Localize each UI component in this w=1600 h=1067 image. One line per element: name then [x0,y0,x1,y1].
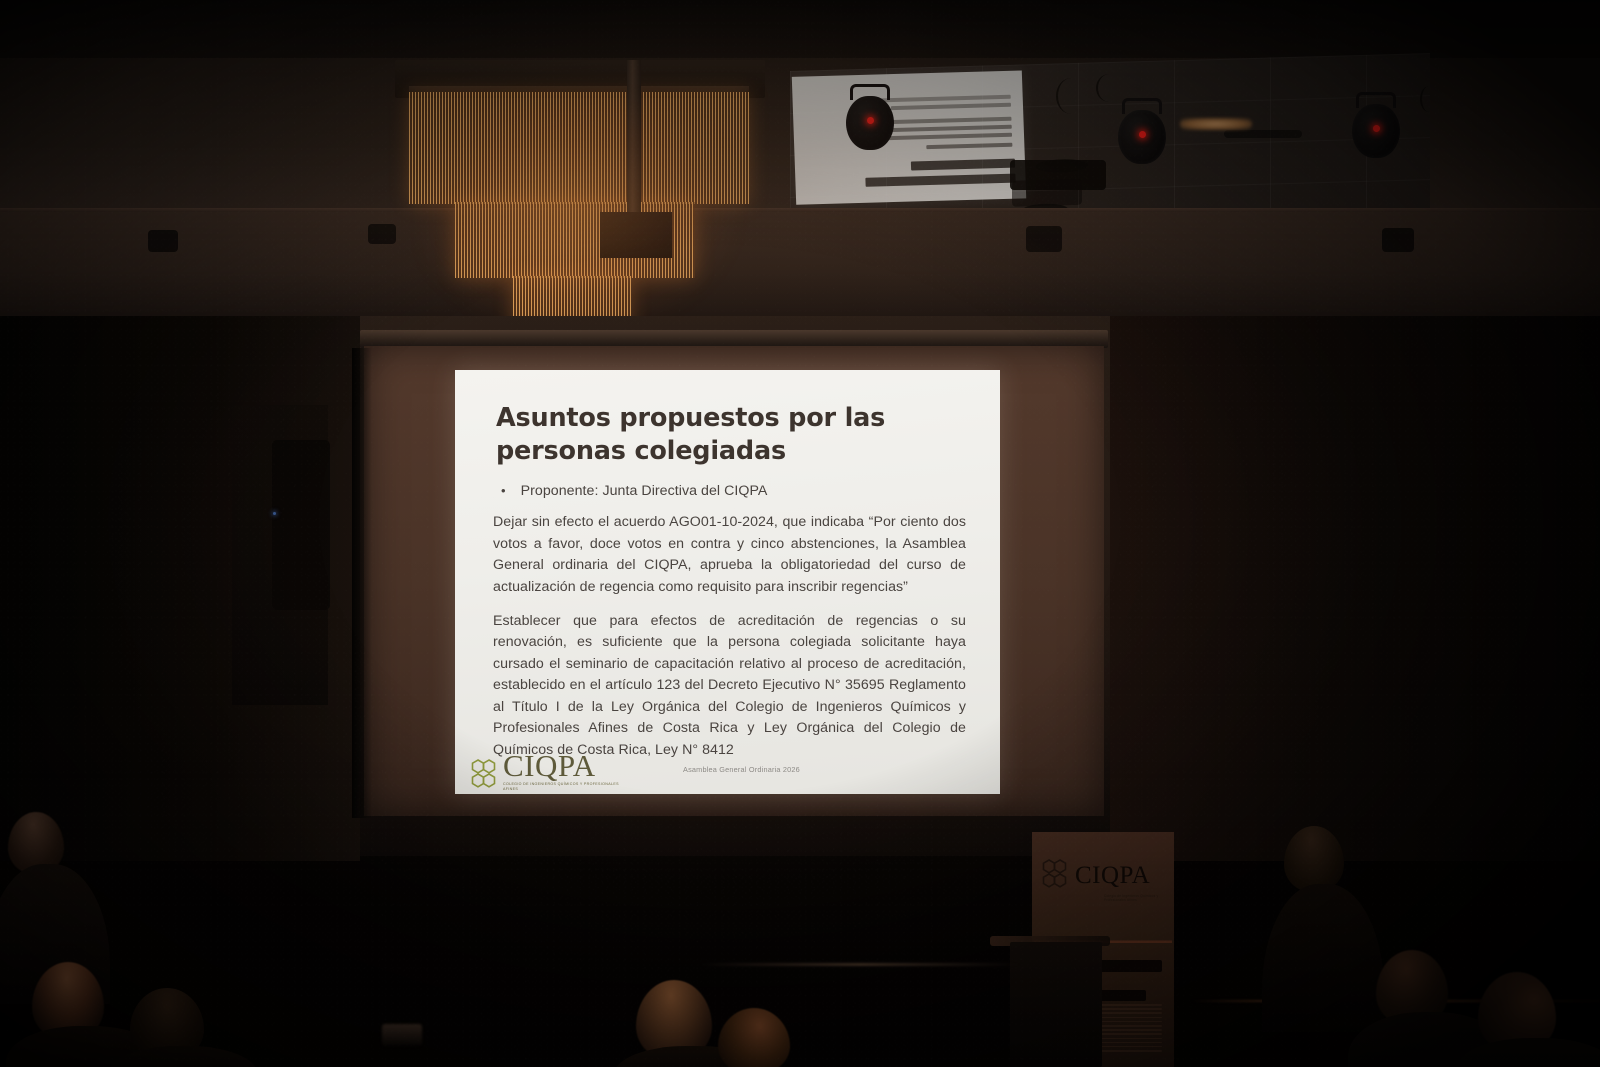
podium-area: CIQPA Colegio de Ingenieros Químicos y P… [1010,824,1220,1067]
stage-light-led-icon [1373,125,1380,132]
slide-paragraph-1: Dejar sin efecto el acuerdo AGO01-10-202… [493,512,966,598]
audience-member [120,988,250,1067]
slide-bullet-text: Proponente: Junta Directiva del CIQPA [521,483,768,499]
projection-screen-assembly: Asuntos propuestos por las personas cole… [352,330,1112,825]
chandelier-tier-1 [409,92,749,204]
ceiling-cable [1056,78,1086,114]
wall-speaker [272,440,330,610]
ceiling-band [0,212,1600,318]
presentation-slide: Asuntos propuestos por las personas cole… [455,370,1000,794]
conference-hall-scene: Asuntos propuestos por las personas cole… [0,0,1600,1067]
stage-light-led-icon [1139,131,1146,138]
ceiling-recess-slot [1224,130,1302,138]
chandelier [395,60,765,310]
banner-logo: CIQPA [1042,858,1150,892]
chandelier-junction-box [600,212,672,258]
ciqpa-logo-tagline: Colegio de Ingenieros Químicos y Profesi… [503,782,623,792]
podium [1010,942,1102,1067]
bullet-dot-icon: • [501,484,506,497]
chandelier-support-rod [627,60,641,230]
banner-wordmark: CIQPA [1075,863,1150,888]
ceiling-warm-light [1180,118,1252,130]
chandelier-tier-3 [513,276,631,318]
ceiling-recess-vent [1010,160,1106,190]
audience-member [1472,972,1600,1067]
slide-reflection [792,70,1026,204]
ceiling-cable [1096,74,1122,102]
hexagon-logo-icon [471,758,501,792]
wall-right-shadow [1110,316,1600,861]
slide-bullet-item: • Proponente: Junta Directiva del CIQPA [501,483,976,499]
ceiling [0,0,1600,318]
ciqpa-logo-wordmark: CIQPA [503,752,596,780]
audience-member [712,1008,832,1067]
hexagon-logo-icon [1042,858,1072,892]
ceiling-soffit [0,0,1600,58]
banner-tagline: Colegio de Ingenieros Químicos y Profesi… [1104,894,1166,902]
slide-title: Asuntos propuestos por las personas cole… [496,402,976,467]
foreground-device [382,1024,422,1046]
screen-left-shadow [352,348,372,818]
slide-footnote: Asamblea General Ordinaria 2026 [683,765,800,774]
slide-footer: CIQPA Colegio de Ingenieros Químicos y P… [455,736,1000,794]
stage-light-led-icon [867,117,874,124]
table-edge [700,963,1020,966]
ciqpa-logo: CIQPA Colegio de Ingenieros Químicos y P… [471,752,623,792]
wall-indicator-light [273,512,276,515]
ceiling-cable [1420,86,1438,112]
